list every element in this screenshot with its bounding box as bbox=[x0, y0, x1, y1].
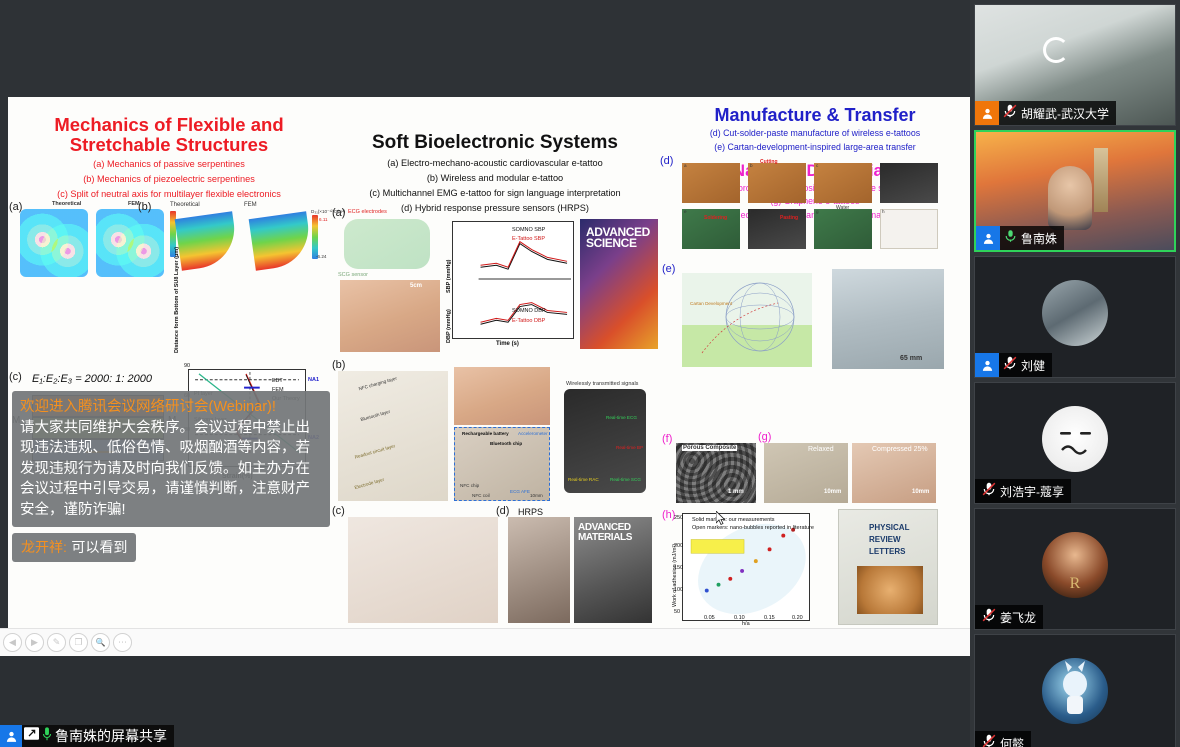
svg-text:R: R bbox=[1070, 575, 1081, 592]
strain-chart-ylabel: Distance form Bottom of SU8 Layer (μm) bbox=[174, 243, 180, 353]
legend-somno-dbp: SOMNO DBP bbox=[512, 308, 546, 314]
panel-label-c: (c) bbox=[9, 371, 22, 383]
mechanics-bullet-a: (a) Mechanics of passive serpentines bbox=[8, 159, 330, 170]
meeting-window: Mechanics of Flexible and Stretchable St… bbox=[0, 0, 1180, 747]
nano-panel-f: (f) bbox=[662, 433, 672, 445]
adh-xtick-4: 0.20 bbox=[792, 615, 803, 621]
participant-label-0: 胡耀武-武汉大学 bbox=[1021, 105, 1109, 122]
step-letter-e: e bbox=[684, 209, 687, 214]
sbp-ylabel: SBP (mmHg) bbox=[446, 259, 452, 293]
scale-10mm-b: 10mm bbox=[530, 493, 543, 498]
figure-etattoo-schematic bbox=[344, 219, 430, 269]
participant-tile-2[interactable]: 刘健 bbox=[974, 256, 1176, 378]
prev-slide-icon[interactable]: ◀ bbox=[3, 633, 22, 652]
adh-xtick-3: 0.15 bbox=[764, 615, 775, 621]
participant-namebox-0: 胡耀武-武汉大学 bbox=[999, 101, 1116, 125]
relaxed-label: Relaxed bbox=[808, 446, 834, 453]
chat-overlay: 欢迎进入腾讯会议网络研讨会(Webinar)! 请大家共同维护大会秩序。会议过程… bbox=[12, 391, 330, 562]
participant-name-bar-3: 刘浩宇-蔻享 bbox=[975, 479, 1071, 503]
participant-tile-0[interactable]: 胡耀武-武汉大学 bbox=[974, 4, 1176, 126]
legend-somno-sbp: SOMNO SBP bbox=[512, 227, 545, 233]
legend-ebt: EBT bbox=[272, 378, 283, 384]
scale-1mm: 1 mm bbox=[728, 489, 744, 495]
participant-tile-3[interactable]: 刘浩宇-蔻享 bbox=[974, 382, 1176, 504]
hrps-label: HRPS bbox=[518, 507, 543, 517]
adhesion-note-1: Solid markers: our measurements bbox=[692, 517, 775, 523]
cartan-development-label: Cartan Development bbox=[690, 301, 732, 306]
bio-panel-a: (a) bbox=[332, 207, 345, 219]
participant-avatar-anime-5 bbox=[1042, 658, 1108, 724]
scale-10mm-right: 10mm bbox=[912, 489, 929, 495]
mfg-panel-e: (e) bbox=[662, 263, 675, 275]
adh-ytick-50: 50 bbox=[674, 609, 680, 615]
pen-glyph: ✎ bbox=[53, 637, 61, 648]
na1-label: NA1 bbox=[308, 377, 319, 383]
figure-step-a bbox=[682, 163, 740, 203]
participant-name-bar-2: 刘健 bbox=[975, 353, 1052, 377]
fig-a-theoretical-label: Theoretical bbox=[52, 201, 81, 207]
participant-label-2: 刘健 bbox=[1021, 357, 1045, 374]
dbp-ylabel: DBP (mmHg) bbox=[446, 309, 452, 343]
caption-cutting: Cutting bbox=[760, 159, 778, 165]
chat-sender: 龙开祥: bbox=[21, 539, 67, 555]
loading-spinner-icon bbox=[1043, 37, 1069, 63]
announcement-title: 欢迎进入腾讯会议网络研讨会(Webinar)! bbox=[20, 397, 322, 418]
manufacture-bullet-e: (e) Cartan-development-inspired large-ar… bbox=[660, 142, 970, 153]
share-owner-avatar bbox=[0, 725, 22, 747]
participant-namebox-2: 刘健 bbox=[999, 353, 1052, 377]
realtime-scg-label: Real-time SCG bbox=[610, 477, 641, 482]
manufacture-bullet-d: (d) Cut-solder-paste manufacture of wire… bbox=[660, 128, 970, 139]
participant-label-1: 鲁南姝 bbox=[1021, 230, 1057, 247]
participant-namebox-5: 何懿 bbox=[975, 731, 1031, 747]
cover-advanced-science-title: ADVANCED SCIENCE bbox=[586, 227, 658, 250]
figure-neck-transfer bbox=[832, 269, 944, 369]
scale-5cm: 5cm bbox=[410, 283, 422, 289]
ytick-90: 90 bbox=[184, 363, 190, 369]
share-top-letterbox bbox=[0, 0, 970, 97]
participant-tile-4[interactable]: R 姜飞龙 bbox=[974, 508, 1176, 630]
scg-sensor-label: SCG sensor bbox=[338, 272, 368, 278]
prev-slide-glyph: ◀ bbox=[9, 637, 16, 648]
cover-advanced-science: ADVANCED SCIENCE bbox=[580, 219, 658, 349]
slide-column-manufacture-nano: Manufacture & Transfer (d) Cut-solder-pa… bbox=[660, 97, 970, 221]
figure-step-c bbox=[814, 163, 872, 203]
bio-panel-c: (c) bbox=[332, 505, 345, 517]
ecg-afe-label: ECG AFE bbox=[510, 489, 530, 494]
nfc-chip-label: NFC chip bbox=[460, 483, 479, 488]
bio-bullet-b: (b) Wireless and modular e-tattoo bbox=[330, 173, 660, 184]
prl-line-1: PHYSICAL bbox=[869, 524, 909, 532]
chat-message: 龙开祥: 可以看到 bbox=[12, 533, 136, 562]
panel-label-b: (b) bbox=[138, 201, 151, 213]
slide-column-bioelectronics: Soft Bioelectronic Systems (a) Electro-m… bbox=[330, 97, 660, 214]
wireless-signals-label: Wirelessly transmitted signals bbox=[566, 381, 638, 387]
participant-namebox-1: 鲁南姝 bbox=[1000, 226, 1064, 250]
chat-text: 可以看到 bbox=[71, 539, 127, 555]
microphone-muted-icon bbox=[982, 482, 996, 501]
step-letter-b: b bbox=[750, 163, 753, 168]
participant-namebox-3: 刘浩宇-蔻享 bbox=[975, 479, 1071, 503]
bio-bullet-c: (c) Multichannel EMG e-tattoo for sign l… bbox=[330, 188, 660, 199]
figure-step-d bbox=[880, 163, 938, 203]
shared-screen-region[interactable]: Mechanics of Flexible and Stretchable St… bbox=[0, 0, 970, 747]
participant-avatar-photo-2 bbox=[1042, 280, 1108, 346]
slide-annotation-toolbar[interactable]: ◀ ▶ ✎ ❐ 🔍 ⋯ bbox=[0, 628, 970, 656]
compressed-label: Compressed 25% bbox=[872, 446, 928, 453]
participant-tile-1[interactable]: 鲁南姝 bbox=[974, 130, 1176, 252]
figure-step-h bbox=[880, 209, 938, 249]
figure-chest-photo bbox=[340, 280, 440, 352]
participant-avatar-photo-4: R bbox=[1042, 532, 1108, 598]
adh-ytick-250: 250 bbox=[674, 515, 683, 521]
microphone-muted-icon bbox=[982, 734, 996, 747]
realtime-ecg-label: Real-time ECG bbox=[606, 415, 637, 420]
tower-decoration bbox=[1094, 148, 1108, 212]
legend-etattoo-sbp: E-Tattoo SBP bbox=[512, 236, 545, 242]
nfc-coil-label: NFC coil bbox=[472, 493, 490, 498]
bp-xlabel: Time (s) bbox=[496, 341, 519, 347]
bioelectronics-title: Soft Bioelectronic Systems bbox=[330, 133, 660, 154]
figure-device-closeup bbox=[454, 427, 550, 501]
mechanics-bullet-c: (c) Split of neutral axis for multilayer… bbox=[8, 189, 330, 200]
legend-etattoo-dbp: E-Tattoo DBP bbox=[512, 318, 545, 324]
step-letter-d: d bbox=[882, 163, 885, 168]
adh-ytick-100: 100 bbox=[674, 587, 683, 593]
colorbar-b-min: -6.24 bbox=[316, 254, 326, 259]
figure-piezo-fem bbox=[249, 211, 314, 271]
microphone-muted-icon bbox=[982, 608, 996, 627]
adh-xtick-2: 0.10 bbox=[734, 615, 745, 621]
next-slide-glyph: ▶ bbox=[31, 637, 38, 648]
figure-face-hrps bbox=[508, 517, 570, 623]
participant-name-bar-1: 鲁南姝 bbox=[976, 226, 1064, 250]
prl-line-2: REVIEW bbox=[869, 536, 901, 544]
adh-ytick-150: 150 bbox=[674, 565, 683, 571]
figure-serpentine-fem bbox=[96, 209, 164, 277]
mouse-cursor bbox=[716, 511, 725, 525]
cover-physical-review-letters: PHYSICAL REVIEW LETTERS bbox=[838, 509, 938, 625]
adh-xtick-1: 0.05 bbox=[704, 615, 715, 621]
participant-label-5: 何懿 bbox=[1000, 735, 1024, 747]
figure-arm-emg bbox=[348, 517, 498, 623]
bt-chip-label: Bluetooth chip bbox=[490, 441, 522, 446]
participant-rail[interactable]: 胡耀武-武汉大学 鲁南姝 bbox=[970, 0, 1180, 747]
figure-piezo-theory bbox=[175, 211, 240, 271]
annotate-pen-icon[interactable]: ✎ bbox=[47, 633, 66, 652]
adh-ytick-200: 200 bbox=[674, 543, 683, 549]
scale-65mm: 65 mm bbox=[900, 355, 922, 362]
microphone-muted-icon bbox=[1003, 356, 1017, 375]
scale-10mm-left: 10mm bbox=[824, 489, 841, 495]
copy-frame-icon[interactable]: ❐ bbox=[69, 633, 88, 652]
step-letter-h: h bbox=[882, 209, 885, 214]
next-slide-icon[interactable]: ▶ bbox=[25, 633, 44, 652]
caption-water: Water bbox=[836, 205, 849, 211]
zoom-search-icon[interactable]: 🔍 bbox=[91, 633, 110, 652]
webinar-announcement: 欢迎进入腾讯会议网络研讨会(Webinar)! 请大家共同维护大会秩序。会议过程… bbox=[12, 391, 330, 527]
figure-step-b bbox=[748, 163, 806, 203]
share-owner-label: 鲁南姝的屏幕共享 bbox=[55, 726, 167, 746]
modulus-ratio: E₁:E₂:E₃ = 2000: 1: 2000 bbox=[32, 373, 152, 385]
participant-name-bar-4: 姜飞龙 bbox=[975, 605, 1043, 629]
realtime-bp-label: Real-time BP bbox=[616, 445, 643, 450]
share-screen-icon bbox=[24, 727, 39, 745]
ecg-electrodes-label: ECG electrodes bbox=[348, 209, 387, 215]
speaker-figure bbox=[1048, 166, 1092, 230]
figure-step-g bbox=[814, 209, 872, 249]
slide-column-mechanics: Mechanics of Flexible and Stretchable St… bbox=[8, 97, 330, 200]
cover-advanced-materials: ADVANCED MATERIALS bbox=[574, 517, 652, 623]
caption-pasting: Pasting bbox=[780, 215, 798, 221]
announcement-body: 请大家共同维护大会秩序。会议过程中禁止出现违法违规、低俗色情、吸烟酗酒等内容，若… bbox=[20, 418, 322, 521]
fig-b-fem-label: FEM bbox=[244, 202, 257, 208]
figure-cartan-sphere bbox=[682, 273, 812, 367]
step-letter-c: c bbox=[816, 163, 818, 168]
microphone-muted-icon bbox=[1003, 104, 1017, 123]
realtime-rac-label: Real-time RAC bbox=[568, 477, 599, 482]
participant-label-3: 刘浩宇-蔻享 bbox=[1000, 483, 1064, 500]
step-letter-f: f bbox=[750, 209, 751, 214]
bio-panel-b: (b) bbox=[332, 359, 345, 371]
mfg-panel-d: (d) bbox=[660, 155, 673, 167]
participant-label-4: 姜飞龙 bbox=[1000, 609, 1036, 626]
adhesion-xlabel: h/a bbox=[742, 621, 750, 627]
colorbar-b-max: 6.11 bbox=[319, 217, 328, 222]
participant-avatar-0 bbox=[975, 101, 999, 125]
prl-line-3: LETTERS bbox=[869, 548, 905, 556]
accelerometer-label: Accelerometer bbox=[518, 431, 548, 436]
figure-porous-composite bbox=[676, 443, 756, 503]
figure-serpentine-theory bbox=[20, 209, 88, 277]
adhesion-note-2: Open markers: nano-bubbles reported in l… bbox=[692, 525, 814, 531]
more-options-icon[interactable]: ⋯ bbox=[113, 633, 132, 652]
zoom-glyph: 🔍 bbox=[96, 638, 106, 647]
adhesion-ylabel: Work of adhesion (mJ/m²) bbox=[672, 544, 678, 607]
cover-advanced-materials-title: ADVANCED MATERIALS bbox=[578, 523, 652, 542]
mechanics-bullet-b: (b) Mechanics of piezoelectric serpentin… bbox=[8, 174, 330, 185]
colorbar-b bbox=[312, 215, 318, 259]
screen-share-banner: 鲁南姝的屏幕共享 bbox=[0, 725, 174, 747]
participant-avatar-face-3 bbox=[1042, 406, 1108, 472]
share-banner-body: 鲁南姝的屏幕共享 bbox=[22, 725, 174, 747]
caption-soldering: Soldering bbox=[704, 215, 727, 221]
more-glyph: ⋯ bbox=[118, 637, 127, 648]
microphone-on-icon bbox=[1004, 229, 1017, 248]
bio-bullet-a: (a) Electro-mechano-acoustic cardiovascu… bbox=[330, 158, 660, 169]
participant-avatar-1 bbox=[976, 226, 1000, 250]
nano-panel-g: (g) bbox=[758, 431, 771, 443]
participant-name-bar-0: 胡耀武-武汉大学 bbox=[975, 101, 1116, 125]
microphone-on-icon bbox=[42, 727, 52, 746]
porous-composite-label: Porous Composite bbox=[682, 445, 737, 451]
mechanics-title: Mechanics of Flexible and Stretchable St… bbox=[8, 115, 330, 155]
step-letter-g: g bbox=[816, 209, 819, 214]
bio-panel-d: (d) bbox=[496, 505, 509, 517]
participant-namebox-4: 姜飞龙 bbox=[975, 605, 1043, 629]
participant-name-bar-5: 何懿 bbox=[975, 731, 1031, 747]
fig-b-theoretical-label: Theoretical bbox=[170, 202, 200, 208]
frame-glyph: ❐ bbox=[74, 637, 82, 648]
participant-tile-5[interactable]: 何懿 bbox=[974, 634, 1176, 747]
figure-chest-wireless bbox=[454, 367, 550, 425]
figure-layer-stack-exploded bbox=[338, 371, 448, 501]
step-letter-a: a bbox=[684, 163, 687, 168]
battery-label: Rechargeable battery bbox=[462, 431, 509, 436]
manufacture-title: Manufacture & Transfer bbox=[660, 106, 970, 125]
participant-avatar-2 bbox=[975, 353, 999, 377]
